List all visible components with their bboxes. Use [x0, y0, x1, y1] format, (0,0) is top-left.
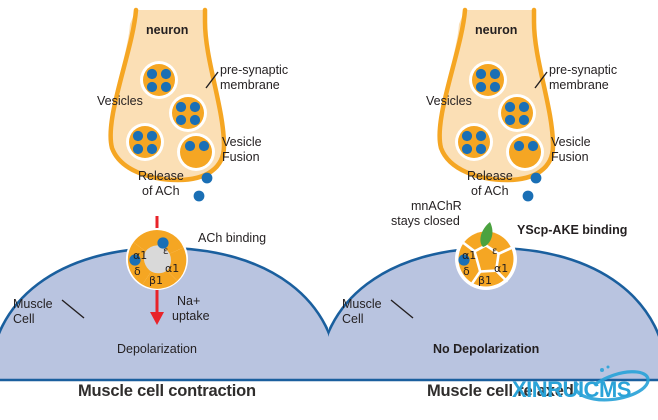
release-ach-label-line1: Release	[467, 170, 513, 184]
released-ach-dot	[202, 173, 213, 184]
receptor-subunit-label-alpha1-right: α1	[165, 262, 179, 276]
panel-title-right: Muscle cell relaxed	[427, 382, 574, 401]
release-ach-label-line2: of ACh	[142, 185, 180, 199]
receptor-subunit-label-beta1: β1	[478, 274, 492, 288]
muscle-cell-label-line1: Muscle	[13, 298, 53, 312]
receptor-subunit-label-epsilon: ε	[163, 245, 168, 259]
receptor-subunit-label-beta1: β1	[149, 274, 163, 288]
presynaptic-membrane-label-line1: pre-synaptic	[220, 64, 288, 78]
neuron-label: neuron	[475, 24, 517, 38]
panel-muscle-cell-contraction: neuron pre-synaptic membrane Vesicles Ve…	[0, 0, 329, 418]
released-ach-dot	[531, 173, 542, 184]
vesicle-fusion-label-line2: Fusion	[551, 151, 589, 165]
no-depolarization-label: No Depolarization	[433, 343, 539, 357]
muscle-cell-label-line2: Cell	[342, 313, 364, 327]
mnachr-closed-label-line1: mnAChR	[411, 200, 462, 214]
vesicle-fusion	[177, 133, 215, 171]
presynaptic-membrane-label-line1: pre-synaptic	[549, 64, 617, 78]
presynaptic-membrane-label-line2: membrane	[220, 79, 280, 93]
released-ach-dot	[523, 191, 534, 202]
vesicle-fusion	[506, 133, 544, 171]
vesicle-fusion-label-line2: Fusion	[222, 151, 260, 165]
receptor-subunit-label-delta: δ	[463, 265, 470, 279]
panel-muscle-cell-relaxed: neuron pre-synaptic membrane Vesicles Ve…	[329, 0, 658, 418]
panel-title-left: Muscle cell contraction	[78, 382, 256, 401]
receptor-subunit-label-alpha1-right: α1	[494, 262, 508, 276]
vesicles-label: Vesicles	[426, 95, 472, 109]
vesicles-label: Vesicles	[97, 95, 143, 109]
vesicle-fusion-label-line1: Vesicle	[551, 136, 591, 150]
receptor-subunit-label-alpha1-upper: α1	[133, 249, 147, 263]
vesicle-fusion-label-line1: Vesicle	[222, 136, 262, 150]
depolarization-label: Depolarization	[117, 343, 197, 357]
released-ach-dot	[194, 191, 205, 202]
muscle-cell-label-line2: Cell	[13, 313, 35, 327]
receptor-subunit-label-epsilon: ε	[492, 245, 497, 259]
sodium-uptake-label-line2: uptake	[172, 310, 210, 324]
vesicle	[140, 61, 178, 99]
ach-binding-label: ACh binding	[198, 232, 266, 246]
mnachr-closed-label-line2: stays closed	[391, 215, 460, 229]
vesicle	[469, 61, 507, 99]
release-ach-label-line2: of ACh	[471, 185, 509, 199]
presynaptic-membrane-label-line2: membrane	[549, 79, 609, 93]
yscp-ake-binding-label: YScp-AKE binding	[517, 224, 627, 238]
vesicle	[169, 94, 207, 132]
receptor-subunit-label-alpha1-upper: α1	[462, 249, 476, 263]
receptor-subunit-label-delta: δ	[134, 265, 141, 279]
muscle-cell-label-line1: Muscle	[342, 298, 382, 312]
vesicle	[498, 94, 536, 132]
neuron-label: neuron	[146, 24, 188, 38]
vesicle	[455, 123, 493, 161]
sodium-uptake-label-line1: Na+	[177, 295, 200, 309]
release-ach-label-line1: Release	[138, 170, 184, 184]
vesicle	[126, 123, 164, 161]
